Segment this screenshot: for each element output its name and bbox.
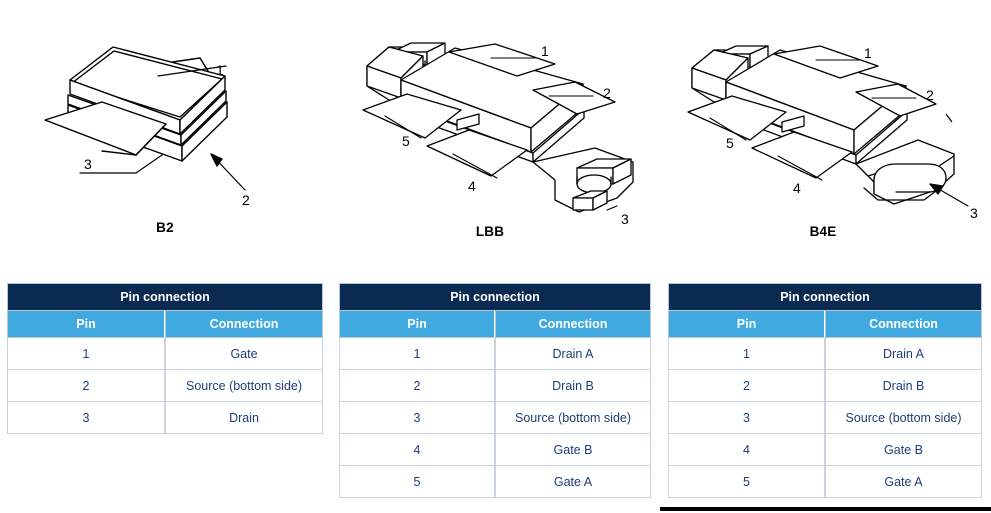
lbb-outline-svg: 1 2 5 4 3 (345, 28, 655, 233)
cell-connection: Drain B (825, 370, 982, 402)
table-row: 1 Drain A (668, 338, 982, 370)
table-row: 3 Source (bottom side) (339, 402, 651, 434)
package-label-b4e: B4E (678, 224, 968, 239)
package-drawing-b2: 1 3 2 B2 (40, 28, 290, 248)
cell-pin: 4 (339, 434, 495, 466)
cell-connection: Gate (165, 338, 323, 370)
cell-connection: Gate A (495, 466, 651, 498)
cell-connection: Source (bottom side) (495, 402, 651, 434)
cell-pin: 1 (339, 338, 495, 370)
table-row: 3 Source (bottom side) (668, 402, 982, 434)
column-header-connection: Connection (165, 310, 323, 338)
cell-connection: Drain (165, 402, 323, 434)
pin-connection-table-b2: Pin connection Pin Connection 1 Gate 2 S… (7, 283, 323, 434)
cell-pin: 2 (668, 370, 825, 402)
cell-pin: 3 (7, 402, 165, 434)
cell-connection: Gate B (825, 434, 982, 466)
cell-connection: Drain B (495, 370, 651, 402)
cell-pin: 5 (339, 466, 495, 498)
callout-b2-1: 1 (216, 62, 224, 78)
table-title: Pin connection (7, 283, 323, 310)
callout-b2-2: 2 (242, 192, 250, 208)
table-header-row: Pin Connection (7, 310, 323, 338)
callout-b4e-2: 2 (926, 87, 934, 103)
callout-lbb-4: 4 (468, 178, 476, 194)
cell-pin: 5 (668, 466, 825, 498)
cell-connection: Source (bottom side) (165, 370, 323, 402)
callout-lbb-1: 1 (541, 43, 549, 59)
table-row: 4 Gate B (339, 434, 651, 466)
column-header-pin: Pin (668, 310, 825, 338)
table-row: 3 Drain (7, 402, 323, 434)
table-row: 2 Source (bottom side) (7, 370, 323, 402)
callout-b4e-5: 5 (726, 135, 734, 151)
package-label-b2: B2 (40, 220, 290, 235)
b4e-outline-svg: 1 2 5 4 3 (678, 28, 988, 233)
table-row: 5 Gate A (339, 466, 651, 498)
cell-connection: Gate A (825, 466, 982, 498)
cell-pin: 1 (7, 338, 165, 370)
cell-pin: 2 (7, 370, 165, 402)
table-row: 1 Drain A (339, 338, 651, 370)
package-drawing-lbb: 1 2 5 4 3 LBB (345, 28, 655, 248)
callout-b4e-1: 1 (864, 45, 872, 61)
package-drawing-b4e: 1 2 5 4 3 B4E (678, 28, 988, 248)
callout-b4e-3: 3 (970, 205, 978, 221)
cell-pin: 3 (339, 402, 495, 434)
stray-tick-mark (946, 114, 952, 122)
cell-pin: 4 (668, 434, 825, 466)
table-title-row: Pin connection (339, 283, 651, 310)
table-row: 2 Drain B (668, 370, 982, 402)
table-title-row: Pin connection (668, 283, 982, 310)
pin-connection-table-b4e: Pin connection Pin Connection 1 Drain A … (668, 283, 982, 498)
b2-outline-svg: 1 3 2 (40, 28, 290, 228)
column-header-connection: Connection (495, 310, 651, 338)
cell-connection: Drain A (825, 338, 982, 370)
table-header-row: Pin Connection (668, 310, 982, 338)
package-label-lbb: LBB (345, 224, 635, 239)
table-title: Pin connection (339, 283, 651, 310)
table-header-row: Pin Connection (339, 310, 651, 338)
table-row: 1 Gate (7, 338, 323, 370)
package-pinout-page: 1 3 2 B2 (0, 0, 991, 513)
cell-connection: Gate B (495, 434, 651, 466)
table-row: 4 Gate B (668, 434, 982, 466)
callout-lbb-2: 2 (603, 85, 611, 101)
table-title: Pin connection (668, 283, 982, 310)
cell-connection: Source (bottom side) (825, 402, 982, 434)
table-row: 5 Gate A (668, 466, 982, 498)
callout-b4e-4: 4 (793, 180, 801, 196)
cell-pin: 2 (339, 370, 495, 402)
table-title-row: Pin connection (7, 283, 323, 310)
cell-pin: 1 (668, 338, 825, 370)
callout-b2-3: 3 (84, 156, 92, 172)
pin-connection-table-lbb: Pin connection Pin Connection 1 Drain A … (339, 283, 651, 498)
table-row: 2 Drain B (339, 370, 651, 402)
footer-rule (660, 507, 991, 511)
column-header-pin: Pin (7, 310, 165, 338)
column-header-pin: Pin (339, 310, 495, 338)
column-header-connection: Connection (825, 310, 982, 338)
cell-connection: Drain A (495, 338, 651, 370)
cell-pin: 3 (668, 402, 825, 434)
callout-lbb-5: 5 (402, 133, 410, 149)
